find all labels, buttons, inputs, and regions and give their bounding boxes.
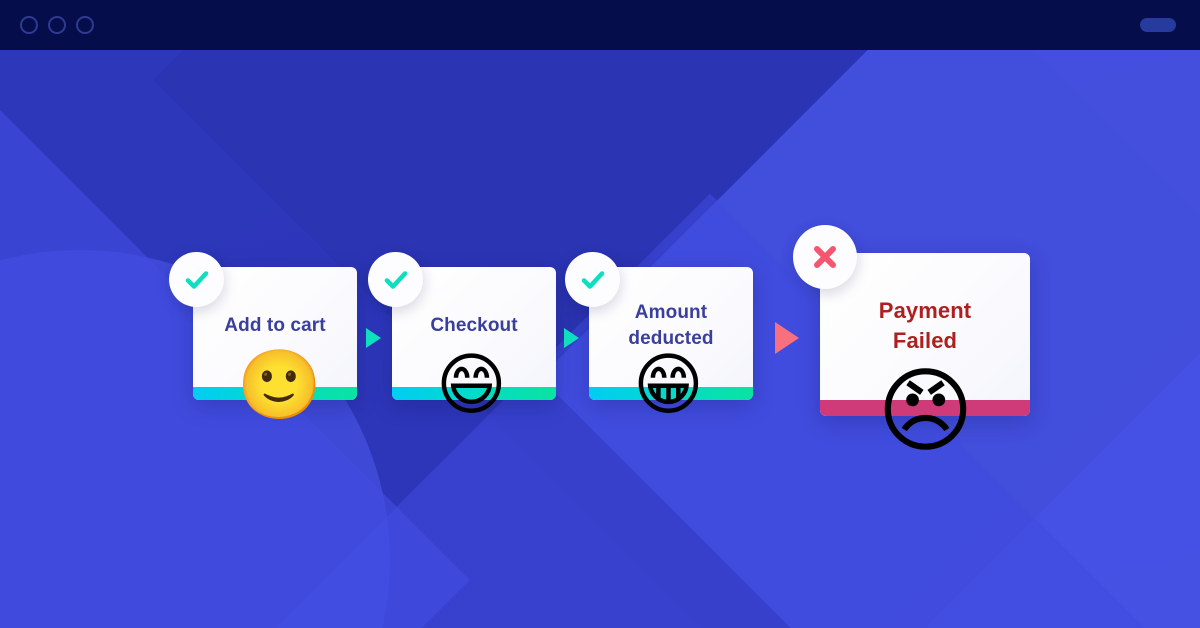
flow-step-checkout[interactable]: Checkout 😄: [392, 267, 556, 400]
flow-arrow-2-icon: [564, 328, 579, 348]
check-icon: [381, 265, 411, 295]
check-icon-badge: [169, 252, 224, 307]
window-titlebar: [0, 0, 1200, 50]
step-label: Payment Failed: [867, 296, 983, 354]
screenshot-stage: Add to cart 🙂 Checkout: [0, 0, 1200, 628]
cross-icon-badge: [793, 225, 857, 289]
flow-arrow-1-icon: [366, 328, 381, 348]
payment-flow-diagram: Add to cart 🙂 Checkout: [0, 0, 1200, 628]
check-icon-badge: [565, 252, 620, 307]
flow-arrow-3-icon: [775, 322, 799, 354]
flow-step-amount-deducted[interactable]: Amount deducted 😁: [589, 267, 753, 400]
check-icon: [578, 265, 608, 295]
check-icon-badge: [368, 252, 423, 307]
step-label: Add to cart: [212, 313, 337, 338]
emoji-grinning-face-with-smiling-eyes: 😄: [436, 352, 507, 420]
cross-icon: [808, 240, 842, 274]
window-circle-3-icon[interactable]: [76, 16, 94, 34]
emoji-angry-face: 😠: [877, 365, 974, 458]
emoji-beaming-face-with-smiling-eyes: 😁: [633, 352, 704, 420]
window-circle-2-icon[interactable]: [48, 16, 66, 34]
step-label: Amount deducted: [616, 300, 725, 350]
step-label: Checkout: [418, 313, 529, 338]
emoji-slightly-smiling-face: 🙂: [237, 352, 322, 420]
flow-step-add-to-cart[interactable]: Add to cart 🙂: [193, 267, 357, 400]
flow-step-payment-failed[interactable]: Payment Failed 😠: [820, 253, 1030, 416]
window-circle-1-icon[interactable]: [20, 16, 38, 34]
window-pill-icon[interactable]: [1140, 18, 1176, 32]
check-icon: [182, 265, 212, 295]
